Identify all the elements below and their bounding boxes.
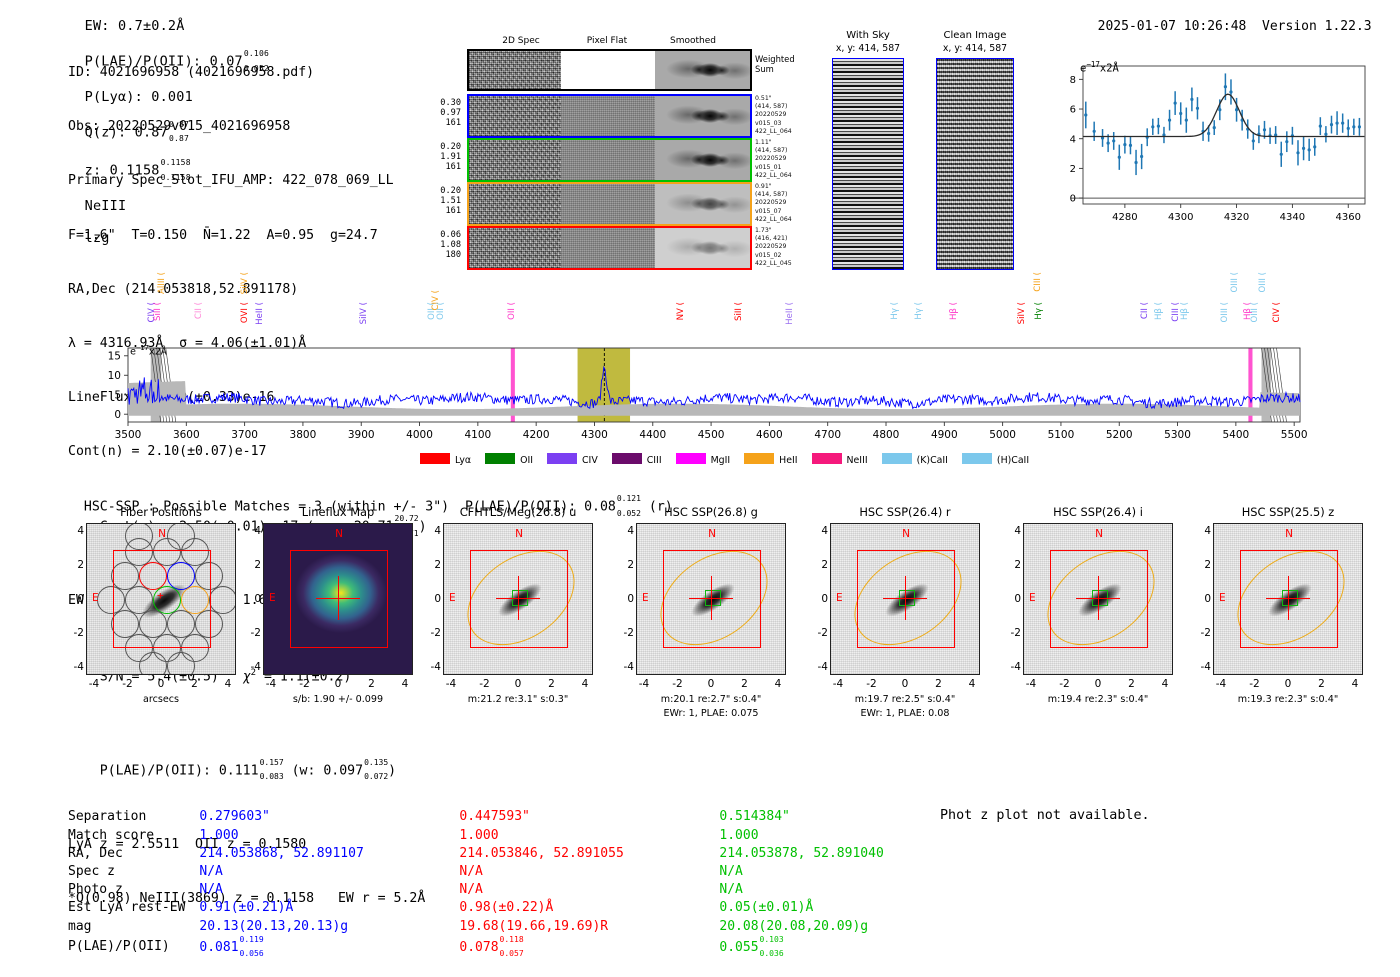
svg-text:6: 6 [1070, 105, 1076, 116]
target-marker: + [157, 592, 164, 600]
photz-note: Phot z plot not available. [940, 808, 1150, 823]
cutout-ytick: 4 [241, 525, 261, 537]
match-row-label: Spec z [68, 863, 199, 881]
svg-text:3500: 3500 [115, 429, 142, 441]
compass-east-label: E [449, 592, 456, 604]
cutout-ytick: 4 [808, 525, 828, 537]
cutout-ytick: -2 [614, 627, 634, 639]
svg-text:4360: 4360 [1336, 212, 1361, 223]
cutout-xtick: -4 [1020, 678, 1042, 690]
svg-text:0: 0 [1070, 194, 1076, 205]
cutout-image[interactable]: NE [1023, 523, 1173, 675]
svg-text:4200: 4200 [523, 429, 550, 441]
spec2d-title-2dspec: 2D Spec [481, 36, 561, 46]
legend-label-neiii: NeIII [847, 455, 868, 466]
legend-label-oii: OII [520, 455, 533, 466]
compass-north-label: N [87, 528, 236, 540]
fiber-row-4-meta: 1.73" (416, 421) 20220529 v015_02 422_LL… [755, 227, 792, 268]
table-row: RA, Dec214.053868, 52.891107214.053846, … [68, 845, 979, 863]
legend-label-ly: Lyα [455, 455, 471, 466]
fiber-row-2-pixelflat-image [561, 140, 655, 180]
table-row: Est LyA rest-EW0.91(±0.21)Å0.98(±0.22)Å0… [68, 899, 979, 917]
with-sky-image [832, 58, 904, 270]
with-sky-title: With Sky [818, 30, 918, 41]
cutout-panel-hsc-ssp-26-4--r[interactable]: HSC SSP(26.4) rNE-4-4-2-2002244m:19.7 re… [812, 505, 982, 519]
cutout-panel-cfhtls-meg-26-8--u[interactable]: CFHTLS/Meg(26.8) uNE-4-4-2-2002244m:21.2… [425, 505, 595, 519]
svg-text:3600: 3600 [173, 429, 200, 441]
line-profile-chart: 0246842804300432043404360 e−17x2Å [1035, 52, 1375, 242]
table-row: P(LAE)/P(OII)0.0810.1190.0560.0780.1180.… [68, 936, 979, 959]
legend-swatch-neiii [812, 453, 842, 464]
fiber-circle-19[interactable] [139, 652, 167, 675]
cutout-ytick: 2 [808, 559, 828, 571]
fiber-row-4-2dspec-image [469, 228, 561, 268]
cutout-panel-hsc-ssp-26-4--i[interactable]: HSC SSP(26.4) iNE-4-4-2-2002244m:19.4 re… [1005, 505, 1175, 519]
cutout-image[interactable]: +NE [86, 523, 236, 675]
cutout-row: Fiber Positions+NE-4-4-2-2002244arcsecsL… [0, 505, 1400, 730]
match-cell: 214.053878, 52.891040 [719, 845, 979, 863]
compass-east-label: E [92, 592, 99, 604]
cutout-title: Fiber Positions [86, 505, 236, 519]
cutout-xtick: 0 [150, 678, 172, 690]
fiber-row-1-smoothed-image [655, 96, 750, 136]
full-spectrum-chart: CIV (SiII (AlIII (CII (SiIV (OVI (HeII (… [0, 270, 1400, 470]
svg-text:3700: 3700 [231, 429, 258, 441]
svg-text:3800: 3800 [290, 429, 317, 441]
legend-swatch-civ [547, 453, 577, 464]
svg-text:10: 10 [108, 370, 121, 382]
match-table: Separation0.279603"0.447593"0.514384"Mat… [68, 772, 979, 977]
svg-text:5300: 5300 [1164, 429, 1191, 441]
cutout-ytick: 4 [614, 525, 634, 537]
legend-swatch-ciii [612, 453, 642, 464]
compass-east-label: E [836, 592, 843, 604]
fiber-row-3-stats: 0.20 1.51 161 [421, 186, 461, 217]
table-row: Photo zN/AN/AN/A [68, 881, 979, 899]
legend-label-civ: CIV [582, 455, 598, 466]
cutout-xtick: -2 [117, 678, 139, 690]
line-profile-annotation: e−17x2Å [1080, 60, 1119, 75]
cutout-ytick: 0 [64, 593, 84, 605]
svg-text:4280: 4280 [1112, 212, 1137, 223]
cutout-ytick: 4 [1191, 525, 1211, 537]
cutout-ytick: -2 [1191, 627, 1211, 639]
match-cell: N/A [719, 863, 979, 881]
with-sky-panel: With Sky x, y: 414, 587 [818, 30, 918, 260]
center-crosshair-v [518, 576, 519, 620]
match-cell: 214.053868, 52.891107 [199, 845, 459, 863]
cutout-ytick: 0 [808, 593, 828, 605]
compass-north-label: N [264, 528, 413, 540]
fiber-row-4-pixelflat-image [561, 228, 655, 268]
svg-text:5000: 5000 [989, 429, 1016, 441]
cutout-ytick: 4 [1001, 525, 1021, 537]
match-row-label: mag [68, 918, 199, 936]
legend-swatch-kcaii [882, 453, 912, 464]
match-row-label: P(LAE)/P(OII) [68, 936, 199, 959]
match-row-label: Est LyA rest-EW [68, 899, 199, 917]
cutout-xtick: 2 [541, 678, 563, 690]
fiber-row-3 [467, 182, 752, 226]
cutout-title: HSC SSP(26.4) r [830, 505, 980, 519]
fiber-row-1-pixelflat-image [561, 96, 655, 136]
cutout-ytick: -4 [1191, 661, 1211, 673]
clean-image-panel: Clean Image x, y: 414, 587 [922, 30, 1028, 260]
cutout-xtick: -4 [260, 678, 282, 690]
cutout-ytick: 0 [421, 593, 441, 605]
table-row: Match score1.0001.0001.000 [68, 827, 979, 845]
compass-east-label: E [1029, 592, 1036, 604]
compass-east-label: E [1219, 592, 1226, 604]
cutout-ytick: -4 [614, 661, 634, 673]
info-obs: Obs: 20220529v015_4021696958 [68, 118, 427, 136]
spectrum-svg: 0510153500360037003800390040004100420043… [0, 270, 1400, 470]
svg-text:5400: 5400 [1222, 429, 1249, 441]
cutout-xtick: 4 [1344, 678, 1366, 690]
cutout-xtick: 0 [327, 678, 349, 690]
cutout-subcaption-0: m:19.7 re:2.5" s:0.4" [812, 694, 998, 705]
cutout-title: Lineflux Map [263, 505, 413, 519]
hscssp-header-hi: 0.121 [617, 494, 641, 503]
cutout-image[interactable]: NE [263, 523, 413, 675]
cutout-ytick: 0 [1001, 593, 1021, 605]
line-profile-svg: 0246842804300432043404360 [1035, 52, 1375, 242]
cutout-xtick: -2 [1244, 678, 1266, 690]
legend-label-heii: HeII [779, 455, 797, 466]
match-cell: 20.13(20.13,20.13)g [199, 918, 459, 936]
match-cell: N/A [459, 863, 719, 881]
clean-image-display [936, 58, 1014, 270]
svg-text:5100: 5100 [1048, 429, 1075, 441]
svg-text:2: 2 [1070, 164, 1076, 175]
spectrum-annotation: e−17x2Å [130, 344, 167, 357]
cutout-xtick: 2 [361, 678, 383, 690]
compass-east-label: E [642, 592, 649, 604]
svg-text:4: 4 [1070, 134, 1076, 145]
cutout-xtick: 4 [394, 678, 416, 690]
match-row-label: Photo z [68, 881, 199, 899]
svg-text:4300: 4300 [1168, 212, 1193, 223]
cutout-ytick: -4 [64, 661, 84, 673]
cutout-panel-hsc-ssp-25-5--z[interactable]: HSC SSP(25.5) zNE-4-4-2-2002244m:19.3 re… [1195, 505, 1365, 519]
cutout-ytick: 0 [614, 593, 634, 605]
cutout-ytick: -4 [808, 661, 828, 673]
fiber-circle-20[interactable] [167, 652, 195, 675]
legend-label-kcaii: (K)CaII [917, 455, 948, 466]
cutout-title: HSC SSP(26.8) g [636, 505, 786, 519]
fiber-row-2 [467, 138, 752, 182]
cutout-xtick: -4 [633, 678, 655, 690]
legend-swatch-hcaii [962, 453, 992, 464]
legend-swatch-heii [744, 453, 774, 464]
compass-north-label: N [444, 528, 593, 540]
cutout-ytick: 2 [64, 559, 84, 571]
cutout-xtick: 4 [574, 678, 596, 690]
header-version: Version 1.22.3 [1262, 19, 1372, 34]
match-cell: 0.279603" [199, 808, 459, 826]
cutout-xtick: 0 [894, 678, 916, 690]
weighted-sum-label: Weighted Sum [755, 54, 795, 74]
compass-north-label: N [637, 528, 786, 540]
svg-text:4400: 4400 [639, 429, 666, 441]
cutout-panel-hsc-ssp-26-8--g[interactable]: HSC SSP(26.8) gNE-4-4-2-2002244m:20.1 re… [618, 505, 788, 519]
cutout-xtick: 2 [184, 678, 206, 690]
compass-north-label: N [831, 528, 980, 540]
svg-text:5200: 5200 [1106, 429, 1133, 441]
compass-north-label: N [1024, 528, 1173, 540]
clean-image-title: Clean Image [922, 30, 1028, 41]
center-crosshair-v [905, 576, 906, 620]
match-cell: N/A [199, 863, 459, 881]
svg-text:15: 15 [108, 350, 121, 362]
cutout-xtick: 4 [1154, 678, 1176, 690]
cutout-xtick: -2 [294, 678, 316, 690]
svg-text:4700: 4700 [814, 429, 841, 441]
cutout-xtick: 2 [1311, 678, 1333, 690]
cutout-subcaption-0: m:19.3 re:2.3" s:0.4" [1195, 694, 1381, 705]
fiber-row-4-stats: 0.06 1.08 180 [421, 230, 461, 261]
cutout-ytick: -2 [808, 627, 828, 639]
cutout-ytick: 2 [421, 559, 441, 571]
spectrum-legend: LyαOIICIVCIIIMgIIHeIINeIII(K)CaII(H)CaII [420, 448, 1020, 467]
cutout-panel-fiber-positions[interactable]: Fiber Positions+NE-4-4-2-2002244arcsecs [68, 505, 238, 519]
svg-text:4600: 4600 [756, 429, 783, 441]
fiber-row-2-2dspec-image [469, 140, 561, 180]
table-row: mag20.13(20.13,20.13)g19.68(19.66,19.69)… [68, 918, 979, 936]
cutout-xtick: 4 [767, 678, 789, 690]
weighted-sum-smoothed-image [655, 51, 750, 89]
spec2d-panel-group: 2D Spec Pixel Flat Smoothed Weighted Sum… [463, 36, 758, 256]
cutout-xtick: 2 [734, 678, 756, 690]
match-row-label: RA, Dec [68, 845, 199, 863]
cutout-image[interactable]: NE [830, 523, 980, 675]
fiber-row-2-smoothed-image [655, 140, 750, 180]
weighted-sum-row [467, 49, 752, 91]
match-cell: 1.000 [459, 827, 719, 845]
cutout-panel-lineflux-map[interactable]: Lineflux MapNE-4-4-2-2002244s/b: 1.90 +/… [245, 505, 415, 519]
cutout-title: CFHTLS/Meg(26.8) u [443, 505, 593, 519]
cutout-xtick: -2 [1054, 678, 1076, 690]
match-cell: 214.053846, 52.891055 [459, 845, 719, 863]
cutout-image[interactable]: NE [1213, 523, 1363, 675]
header-datetime: 2025-01-07 10:26:48 [1098, 19, 1247, 34]
cutout-xtick: -2 [474, 678, 496, 690]
cutout-ytick: -2 [421, 627, 441, 639]
svg-text:4320: 4320 [1224, 212, 1249, 223]
svg-text:0: 0 [114, 409, 121, 421]
fiber-row-3-2dspec-image [469, 184, 561, 224]
fiber-row-2-meta: 1.11" (414, 587) 20220529 v015_01 422_LL… [755, 139, 792, 180]
cutout-xtick: -4 [827, 678, 849, 690]
spec2d-title-smoothed: Smoothed [653, 36, 733, 46]
cutout-xtick: -2 [861, 678, 883, 690]
cutout-ytick: 2 [1191, 559, 1211, 571]
fiber-row-1-meta: 0.51" (414, 587) 20220529 v015_03 422_LL… [755, 95, 792, 136]
cutout-ytick: 2 [1001, 559, 1021, 571]
info-plae-hi: 0.157 [260, 758, 284, 767]
center-crosshair-v [338, 576, 339, 620]
fiber-row-1-2dspec-image [469, 96, 561, 136]
match-cell: 0.98(±0.22)Å [459, 899, 719, 917]
header-timestamp-version: 2025-01-07 10:26:48 Version 1.22.3 [1082, 4, 1372, 34]
cutout-xtick: 0 [1087, 678, 1109, 690]
info-seeing-throughput: F=1.6" T=0.150 N̄=1.22 A=0.95 g=24.7 [68, 227, 427, 245]
weighted-sum-pixelflat-image [561, 51, 655, 89]
center-crosshair-v [1098, 576, 1099, 620]
svg-text:4900: 4900 [931, 429, 958, 441]
match-cell: 0.0810.1190.056 [199, 936, 459, 959]
cutout-xtick: 2 [1121, 678, 1143, 690]
match-cell: 0.05(±0.01)Å [719, 899, 979, 917]
cutout-xtick: 2 [928, 678, 950, 690]
with-sky-coords: x, y: 414, 587 [818, 43, 918, 54]
compass-north-label: N [1214, 528, 1363, 540]
match-cell: N/A [199, 881, 459, 899]
cutout-ytick: 4 [421, 525, 441, 537]
cutout-ytick: 4 [64, 525, 84, 537]
cutout-subcaption-1: EWr: 1, PLAE: 0.075 [618, 708, 804, 719]
cutout-ytick: 2 [241, 559, 261, 571]
cutout-xtick: -4 [83, 678, 105, 690]
center-crosshair-v [711, 576, 712, 620]
cutout-ytick: -2 [1001, 627, 1021, 639]
fiber-row-1 [467, 94, 752, 138]
match-cell: 0.447593" [459, 808, 719, 826]
fiber-row-1-stats: 0.30 0.97 161 [421, 98, 461, 129]
svg-text:3900: 3900 [348, 429, 375, 441]
info-primary-spec: Primary Spec_Slot_IFU_AMP: 422_078_069_L… [68, 172, 427, 190]
match-cell: N/A [719, 881, 979, 899]
cutout-xtick: 4 [961, 678, 983, 690]
match-cell: 1.000 [199, 827, 459, 845]
svg-text:4340: 4340 [1280, 212, 1305, 223]
match-cell: 1.000 [719, 827, 979, 845]
legend-swatch-mgii [676, 453, 706, 464]
svg-text:4100: 4100 [464, 429, 491, 441]
legend-label-mgii: MgII [711, 455, 731, 466]
svg-text:4800: 4800 [873, 429, 900, 441]
match-cell: 0.0550.1030.036 [719, 936, 979, 959]
fiber-row-3-meta: 0.91" (414, 587) 20220529 v015_07 422_LL… [755, 183, 792, 224]
svg-text:5500: 5500 [1281, 429, 1308, 441]
legend-label-ciii: CIII [647, 455, 662, 466]
cutout-subcaption-0: s/b: 1.90 +/- 0.099 [245, 694, 431, 705]
table-row: Spec zN/AN/AN/A [68, 863, 979, 881]
cutout-ytick: 0 [241, 593, 261, 605]
info-id: ID: 4021696958 (4021696958.pdf) [68, 64, 427, 82]
legend-swatch-oii [485, 453, 515, 464]
cutout-xtick: 4 [217, 678, 239, 690]
fiber-row-3-smoothed-image [655, 184, 750, 224]
cutout-title: HSC SSP(26.4) i [1023, 505, 1173, 519]
match-cell: 0.0780.1180.057 [459, 936, 719, 959]
cutout-xtick: 0 [507, 678, 529, 690]
table-row: Separation0.279603"0.447593"0.514384" [68, 808, 979, 826]
legend-label-hcaii: (H)CaII [997, 455, 1029, 466]
match-cell: 19.68(19.66,19.69)R [459, 918, 719, 936]
match-row-label: Separation [68, 808, 199, 826]
fiber-row-2-stats: 0.20 1.91 161 [421, 142, 461, 173]
spec2d-title-pixelflat: Pixel Flat [567, 36, 647, 46]
cutout-ytick: -2 [64, 627, 84, 639]
fiber-row-3-pixelflat-image [561, 184, 655, 224]
compass-east-label: E [269, 592, 276, 604]
cutout-ytick: 0 [1191, 593, 1211, 605]
cutout-image[interactable]: NE [443, 523, 593, 675]
cutout-ytick: -2 [241, 627, 261, 639]
cutout-subcaption-0: m:19.4 re:2.3" s:0.4" [1005, 694, 1191, 705]
match-table-grid: Separation0.279603"0.447593"0.514384"Mat… [68, 808, 979, 958]
cutout-xtick: -4 [440, 678, 462, 690]
match-cell: 0.91(±0.21)Å [199, 899, 459, 917]
weighted-sum-2dspec-image [469, 51, 561, 89]
match-cell: N/A [459, 881, 719, 899]
info-plae-w-hi: 0.135 [364, 758, 388, 767]
cutout-subcaption-0: arcsecs [68, 694, 254, 705]
clean-image-coords: x, y: 414, 587 [922, 43, 1028, 54]
svg-text:4300: 4300 [581, 429, 608, 441]
svg-text:4000: 4000 [406, 429, 433, 441]
cutout-ytick: -4 [1001, 661, 1021, 673]
cutout-subcaption-0: m:21.2 re:3.1" s:0.3" [425, 694, 611, 705]
cutout-ytick: 2 [614, 559, 634, 571]
cutout-xtick: -4 [1210, 678, 1232, 690]
cutout-ytick: -4 [241, 661, 261, 673]
cutout-image[interactable]: NE [636, 523, 786, 675]
match-row-label: Match score [68, 827, 199, 845]
cutout-xtick: 0 [1277, 678, 1299, 690]
fiber-row-4-smoothed-image [655, 228, 750, 268]
legend-swatch-ly [420, 453, 450, 464]
cutout-subcaption-1: EWr: 1, PLAE: 0.08 [812, 708, 998, 719]
svg-text:8: 8 [1070, 75, 1076, 86]
center-crosshair-v [1288, 576, 1289, 620]
cutout-xtick: -2 [667, 678, 689, 690]
svg-text:5: 5 [114, 389, 121, 401]
fiber-row-4 [467, 226, 752, 270]
cutout-subcaption-0: m:20.1 re:2.7" s:0.4" [618, 694, 804, 705]
svg-text:4500: 4500 [698, 429, 725, 441]
cutout-title: HSC SSP(25.5) z [1213, 505, 1363, 519]
cutout-ytick: -4 [421, 661, 441, 673]
match-cell: 20.08(20.08,20.09)g [719, 918, 979, 936]
cutout-xtick: 0 [700, 678, 722, 690]
